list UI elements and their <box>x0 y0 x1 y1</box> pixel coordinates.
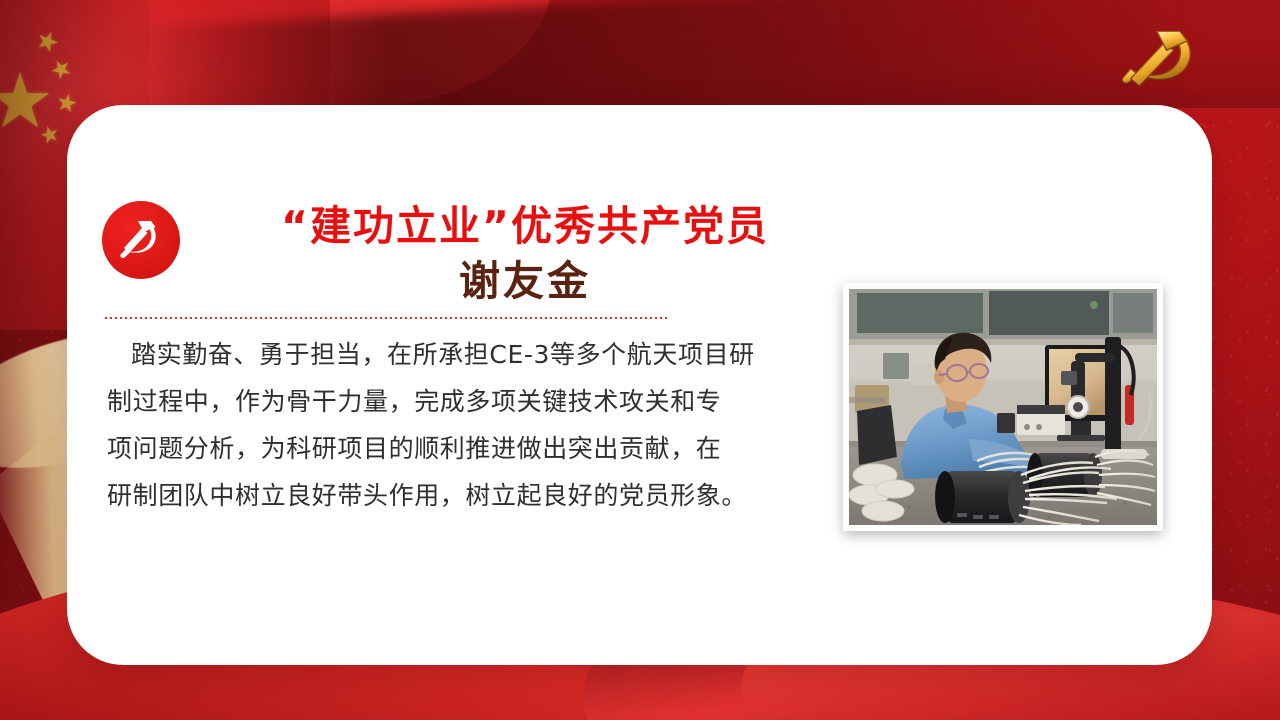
page-title: “建功立业”优秀共产党员 <box>195 201 855 252</box>
description-line: 项问题分析，为科研项目的顺利推进做出突出贡献，在 <box>107 425 877 472</box>
title-block: “建功立业”优秀共产党员 谢友金 <box>195 201 855 307</box>
honoree-photo <box>849 289 1157 525</box>
description-line: 制过程中，作为骨干力量，完成多项关键技术攻关和专 <box>107 378 877 425</box>
honoree-name: 谢友金 <box>195 256 855 308</box>
honoree-photo-frame <box>843 283 1163 531</box>
hammer-and-sickle-icon <box>1100 22 1218 88</box>
party-emblem-badge-icon <box>102 201 180 279</box>
slide-root: ★ ★ ★ ★ ★ <box>0 0 1280 720</box>
content-card: “建功立业”优秀共产党员 谢友金 踏实勤奋、勇于担当，在所承担CE-3等多个航天… <box>67 105 1212 665</box>
dotted-divider <box>105 317 667 319</box>
description-line: 研制团队中树立良好带头作用，树立起良好的党员形象。 <box>107 472 877 519</box>
description-line: 踏实勤奋、勇于担当，在所承担CE-3等多个航天项目研 <box>107 331 877 378</box>
description-paragraph: 踏实勤奋、勇于担当，在所承担CE-3等多个航天项目研 制过程中，作为骨干力量，完… <box>107 331 877 519</box>
